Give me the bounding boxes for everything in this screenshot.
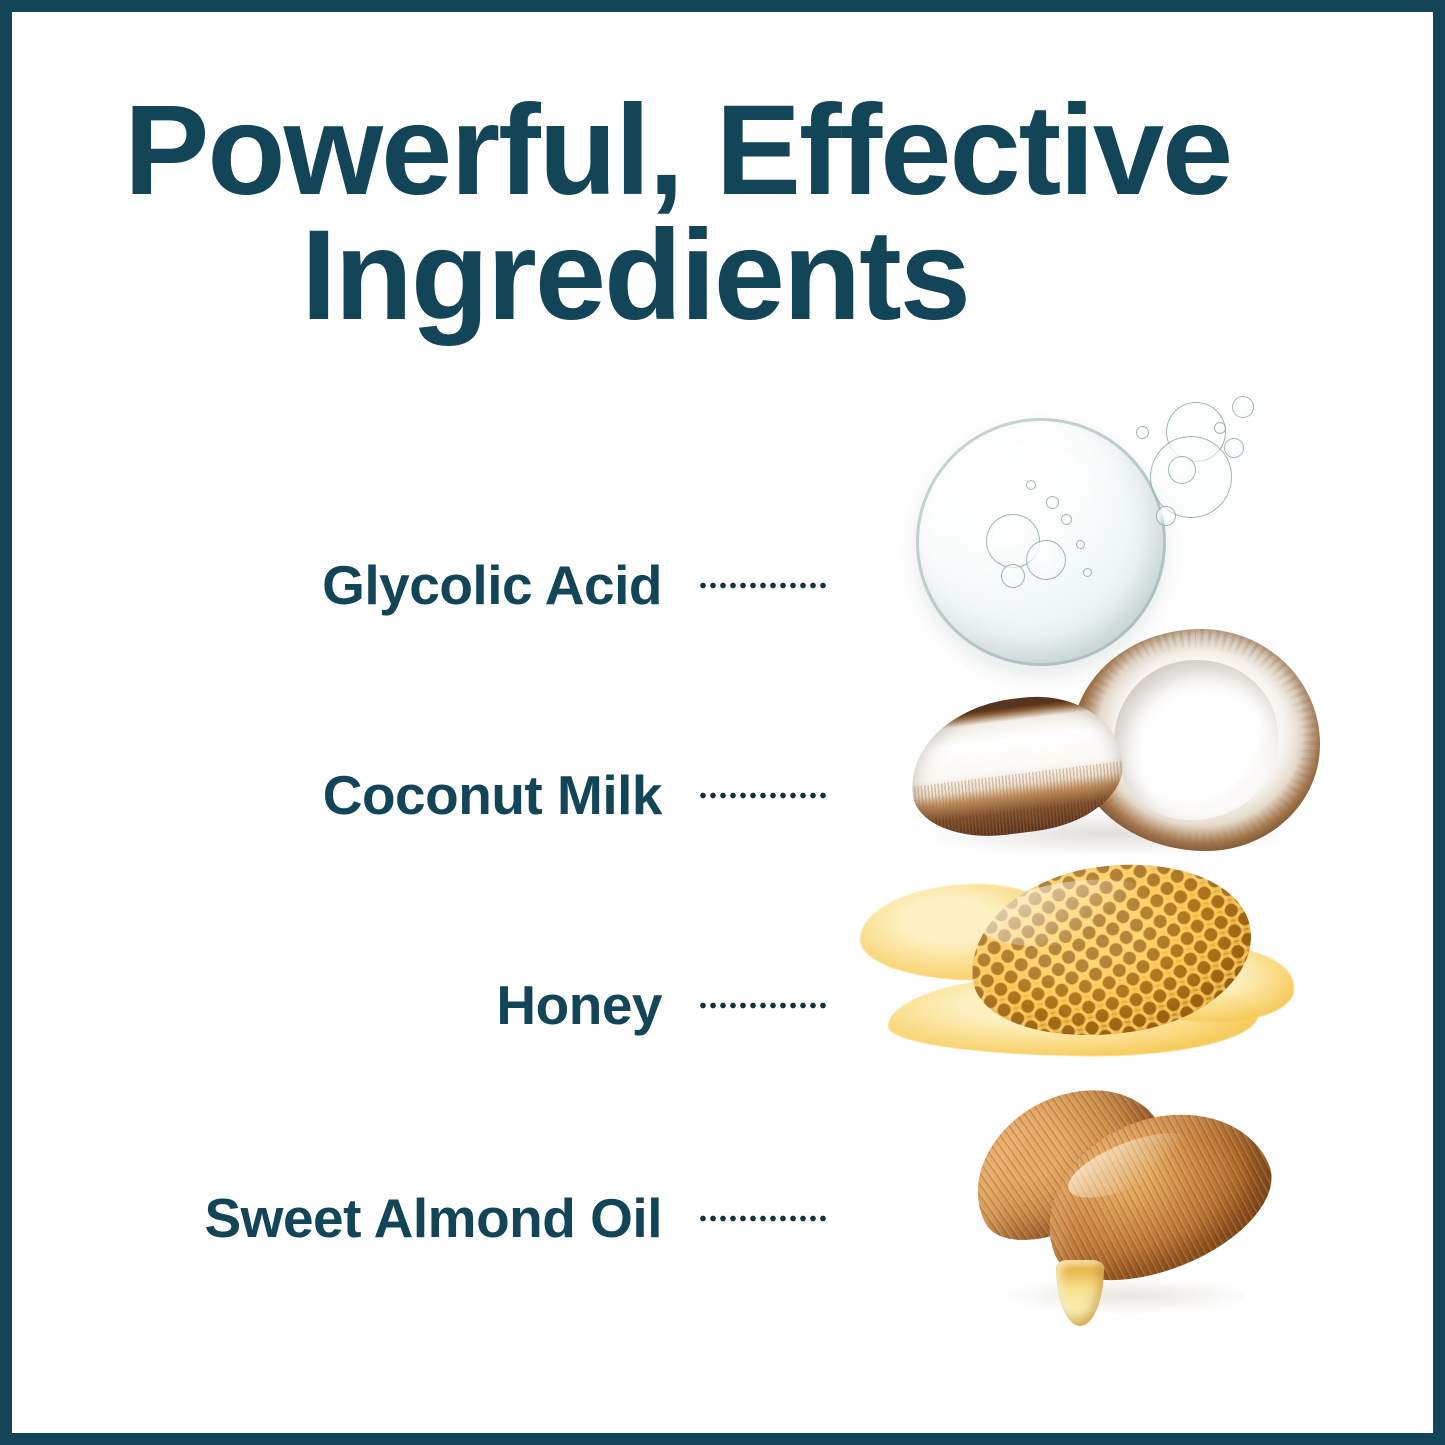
bubble-icon: [1156, 506, 1176, 526]
title-line-2: Ingredients: [110, 213, 1340, 338]
page-title: Powerful, Effective Ingredients: [110, 88, 1340, 339]
bubble-icon: [1136, 426, 1149, 439]
almonds-with-oil-drip-image: [944, 1092, 1294, 1364]
coconut-halves-image: [900, 615, 1330, 875]
honeycomb-image: [852, 862, 1302, 1092]
ingredient-label-sweet-almond-oil: Sweet Almond Oil: [204, 1186, 662, 1250]
bubble-icon: [1026, 480, 1036, 490]
ingredient-row-coconut-milk: Coconut Milk: [80, 755, 830, 835]
bubble-icon: [1061, 514, 1072, 525]
bubble-icon: [1026, 540, 1066, 580]
bubble-icon: [1083, 568, 1092, 577]
ingredient-label-glycolic-acid: Glycolic Acid: [322, 553, 662, 617]
dotted-leader-icon: [698, 1214, 830, 1222]
dotted-leader-icon: [698, 581, 830, 589]
ingredient-label-coconut-milk: Coconut Milk: [323, 763, 662, 827]
oil-drop-icon: [1056, 1260, 1104, 1326]
ingredients-infographic: Powerful, Effective Ingredients Glycolic…: [0, 0, 1445, 1445]
dotted-leader-icon: [698, 791, 830, 799]
bubble-icon: [1046, 496, 1059, 509]
bubble-icon: [1076, 540, 1085, 549]
bubble-icon: [1224, 438, 1244, 458]
title-line-1: Powerful, Effective: [110, 88, 1340, 213]
bubble-icon: [1001, 564, 1025, 588]
bubble-icon: [1232, 396, 1254, 418]
ingredient-row-sweet-almond-oil: Sweet Almond Oil: [80, 1178, 830, 1258]
bubble-icon: [1168, 456, 1196, 484]
dotted-leader-icon: [698, 1001, 830, 1009]
ingredient-row-honey: Honey: [80, 965, 830, 1045]
bubble-icon: [1214, 422, 1226, 434]
ingredient-label-honey: Honey: [496, 973, 662, 1037]
ingredient-row-glycolic-acid: Glycolic Acid: [80, 545, 830, 625]
